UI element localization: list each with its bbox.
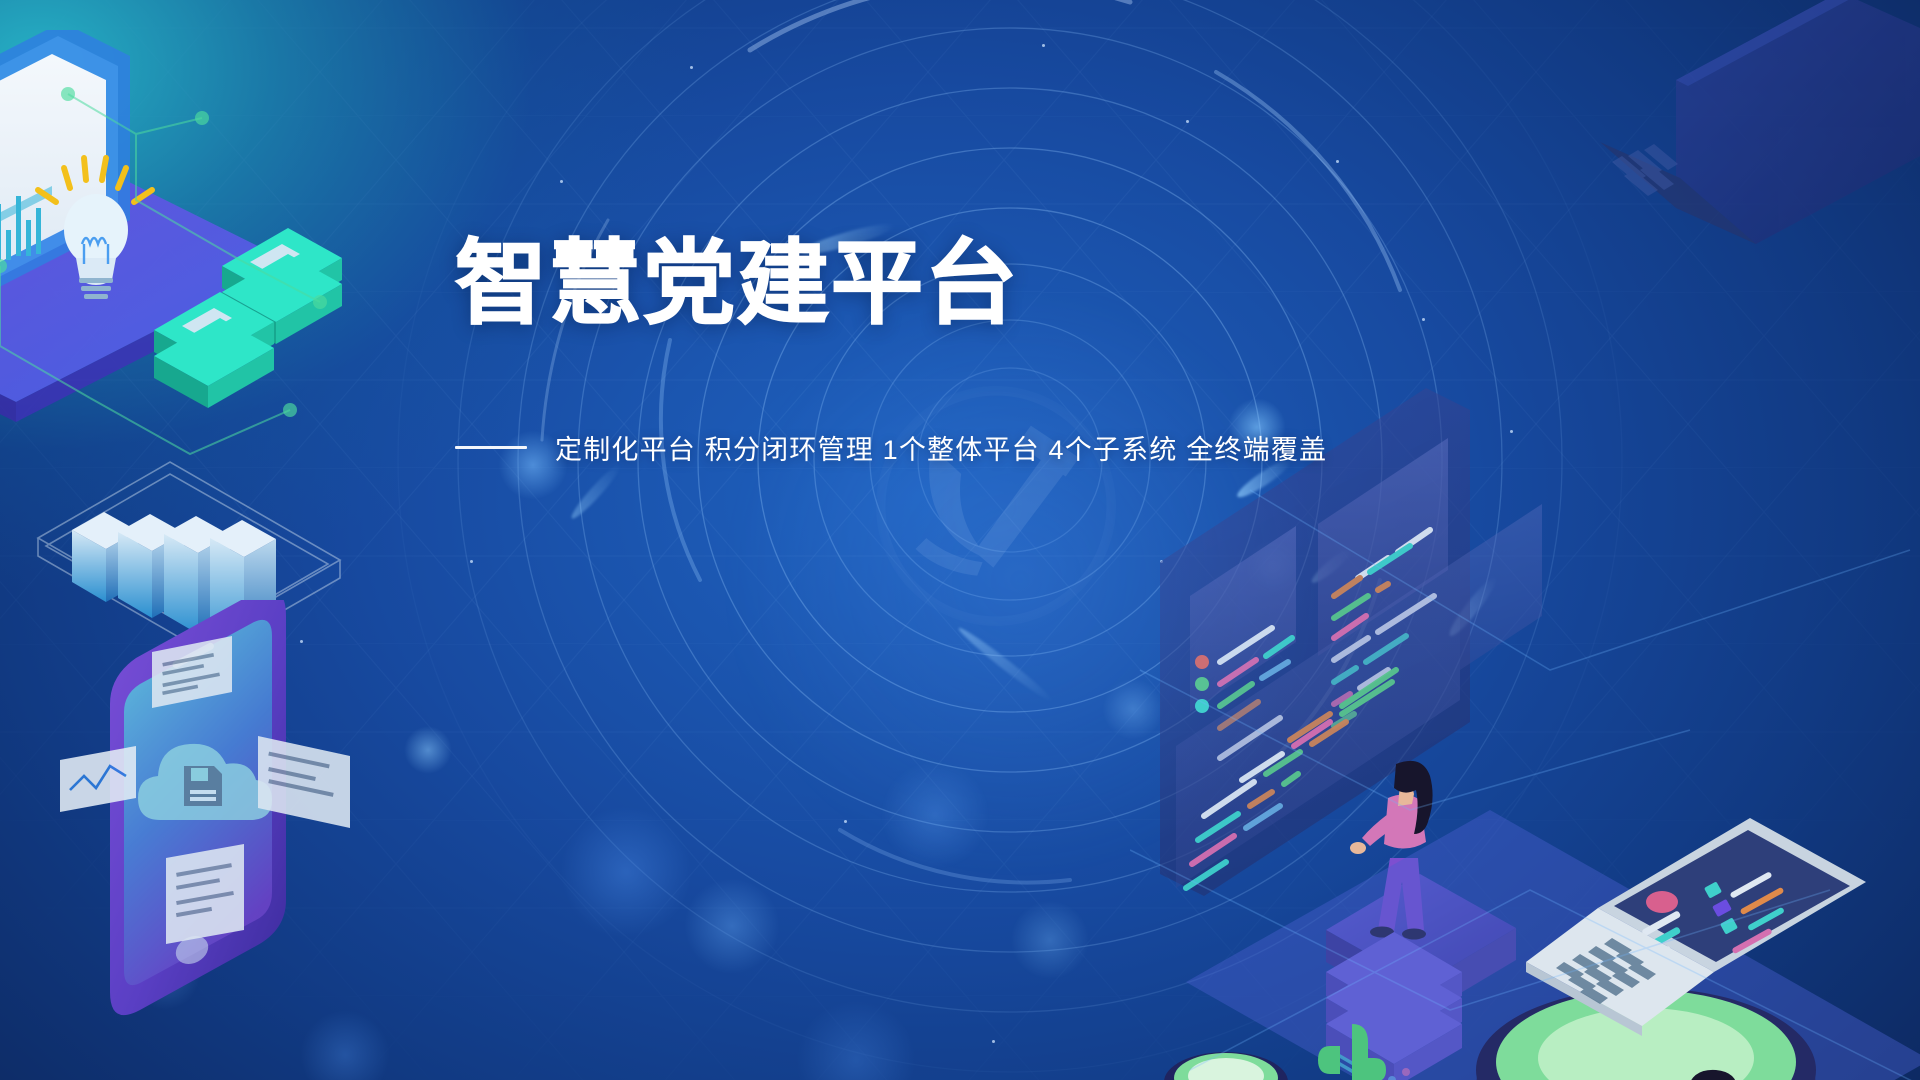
hero-subtitle: 定制化平台 积分闭环管理 1个整体平台 4个子系统 全终端覆盖: [555, 428, 1327, 467]
banner-stage: 智慧党建平台 定制化平台 积分闭环管理 1个整体平台 4个子系统 全终端覆盖: [0, 0, 1920, 1080]
spark-dot: [1422, 318, 1425, 321]
subtitle-dash: [455, 446, 527, 449]
spark-dot: [690, 66, 693, 69]
isometric-data-dashboard-scene: [1130, 370, 1920, 1080]
spark-dot: [1042, 44, 1045, 47]
spark-dot: [992, 1040, 995, 1043]
hero-text-block: 智慧党建平台 定制化平台 积分闭环管理 1个整体平台 4个子系统 全终端覆盖: [455, 238, 1355, 467]
isometric-dark-laptop: [1560, 0, 1920, 290]
page-title: 智慧党建平台: [455, 238, 1355, 332]
spark-dot: [1186, 120, 1189, 123]
isometric-smartphone-cloud-storage: [40, 600, 370, 1080]
spark-dot: [844, 820, 847, 823]
spark-dot: [560, 180, 563, 183]
spark-dot: [470, 560, 473, 563]
hero-subtitle-row: 定制化平台 积分闭环管理 1个整体平台 4个子系统 全终端覆盖: [455, 428, 1355, 467]
spark-dot: [1336, 160, 1339, 163]
